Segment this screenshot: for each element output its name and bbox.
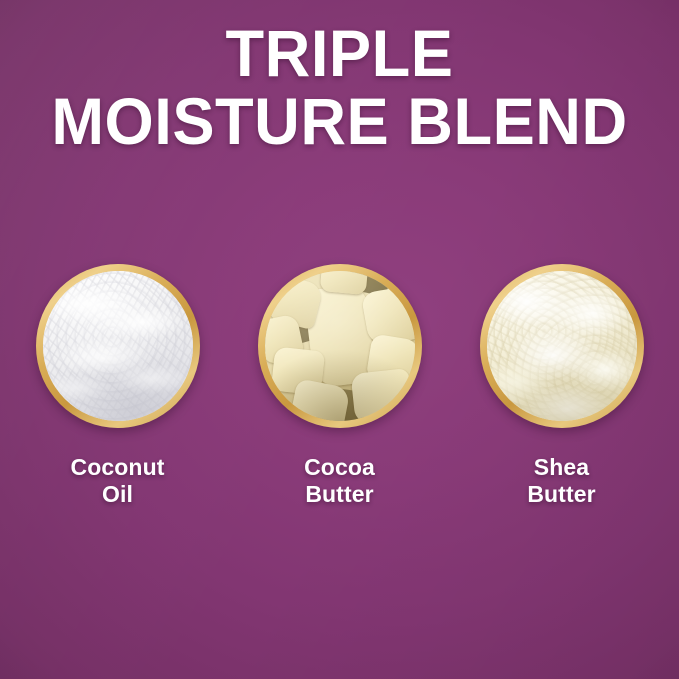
shea-butter-label-line1: Shea [527,454,595,481]
headline-block: TRIPLE MOISTURE BLEND [0,22,679,152]
shea-butter-label-line2: Butter [527,481,595,508]
coconut-oil-caption: Coconut Oil [71,454,165,508]
ingredient-row: Coconut Oil [0,264,679,508]
coconut-oil-disc [36,264,200,428]
cocoa-butter-caption: Cocoa Butter [304,454,375,508]
shea-butter-disc [480,264,644,428]
cocoa-butter-label-line1: Cocoa [304,454,375,481]
triple-moisture-blend-poster: TRIPLE MOISTURE BLEND Coconut Oil [0,0,679,679]
cocoa-butter-texture [265,271,415,421]
headline-line-2: MOISTURE BLEND [0,90,679,156]
ingredient-cocoa-butter: Cocoa Butter [257,264,423,508]
ingredient-coconut-oil: Coconut Oil [35,264,201,508]
cocoa-chunk-9 [319,271,367,295]
coconut-oil-label-line2: Oil [71,481,165,508]
shea-butter-texture [487,271,637,421]
cocoa-chunk-7 [350,368,413,421]
coconut-oil-image-mask [43,271,193,421]
cocoa-butter-disc [258,264,422,428]
cocoa-butter-label-line2: Butter [304,481,375,508]
shea-butter-caption: Shea Butter [527,454,595,508]
coconut-oil-texture [43,271,193,421]
cocoa-butter-image-mask [265,271,415,421]
shea-butter-image-mask [487,271,637,421]
ingredient-shea-butter: Shea Butter [479,264,645,508]
coconut-oil-label-line1: Coconut [71,454,165,481]
headline-line-1: TRIPLE [0,22,679,88]
